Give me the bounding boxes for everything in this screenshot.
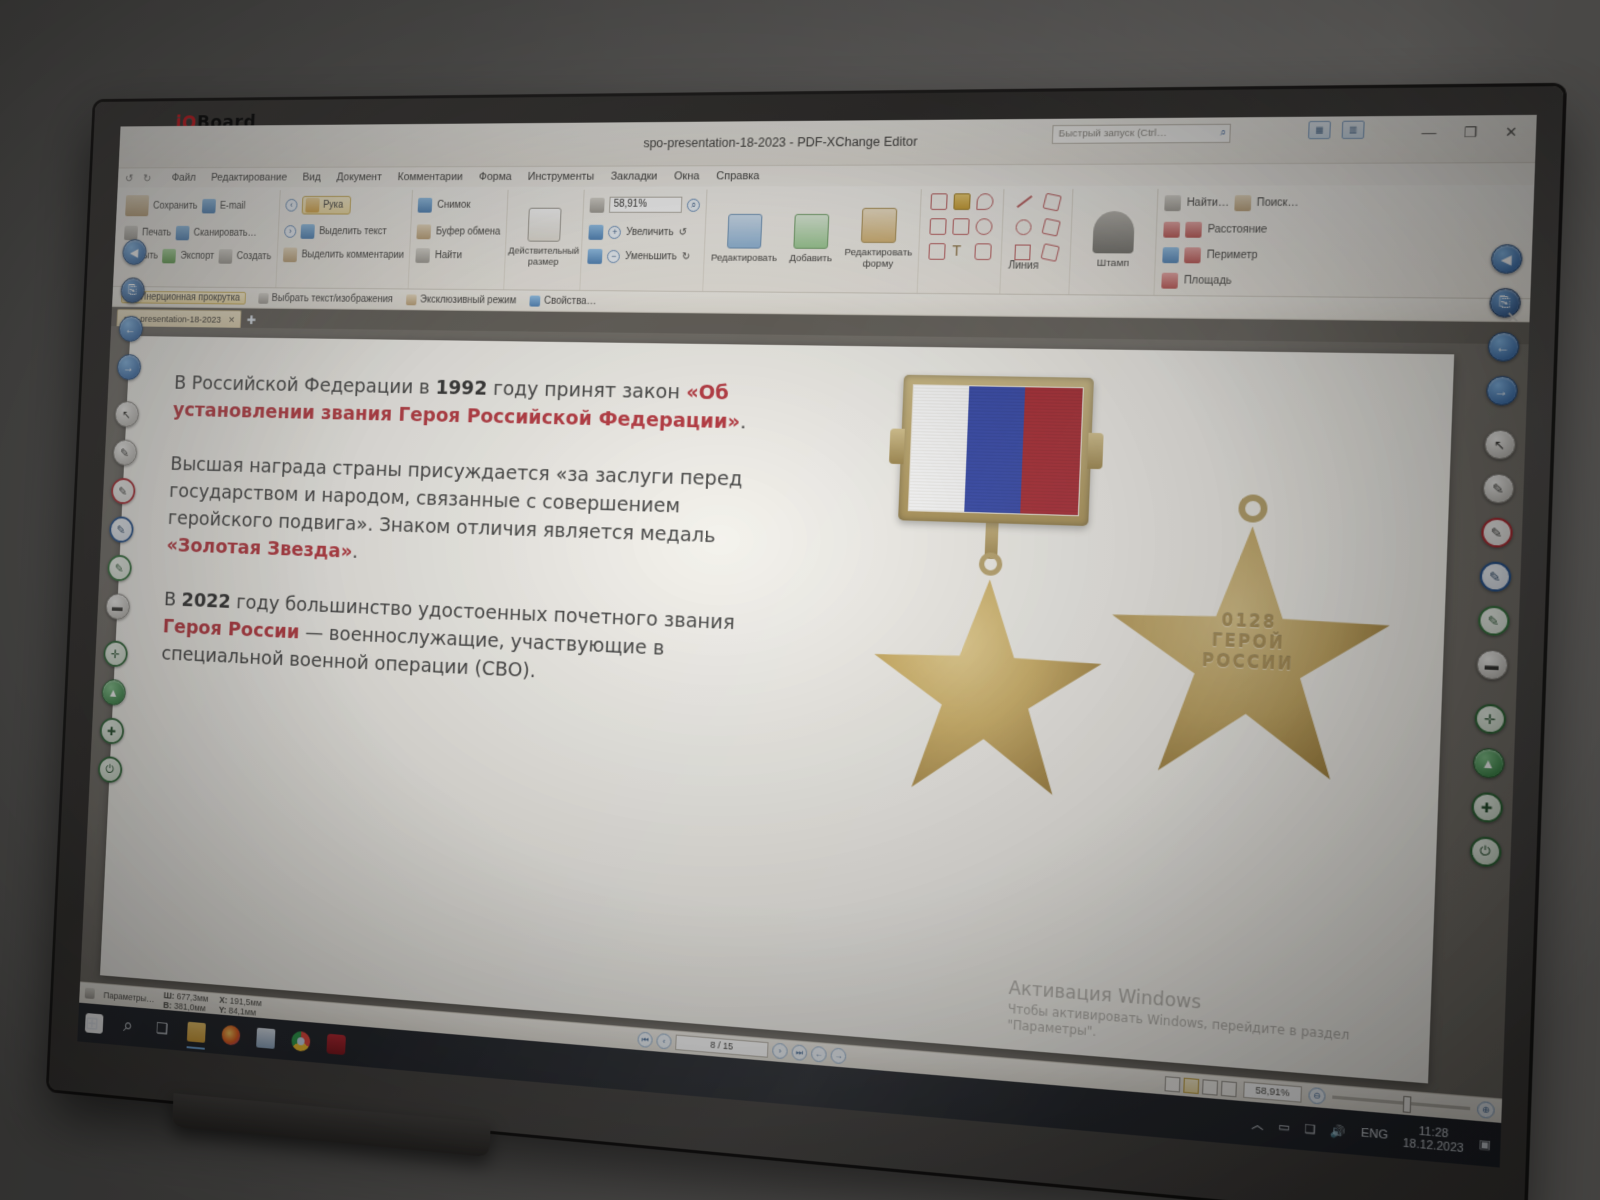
board-screen: spo-presentation-18-2023 - PDF-XChange E…	[77, 115, 1537, 1168]
ribbon-group-zoom: 58,91% ⌕ + Увеличить ↺ − Уменьшить	[581, 190, 708, 292]
power-icon[interactable]: ⏻	[97, 756, 122, 784]
layout-settings-icon[interactable]: ▦	[1308, 121, 1331, 139]
scan-label[interactable]: Сканировать…	[193, 227, 257, 238]
distance-label[interactable]: Расстояние	[1207, 223, 1267, 235]
language-indicator[interactable]: ENG	[1361, 1127, 1389, 1143]
app-icon[interactable]	[256, 1028, 275, 1049]
cloud-shape-icon[interactable]	[1040, 243, 1059, 262]
select-comments-label[interactable]: Выделить комментарии	[301, 249, 404, 260]
ribbon-group-measure: Найти… Поиск… Расстояние Периме	[1155, 189, 1306, 297]
pen-red-icon[interactable]: ✎	[110, 478, 135, 505]
engraving-line2: РОССИИ	[1110, 648, 1388, 681]
pen-blue-icon[interactable]: ✎	[108, 516, 133, 543]
sticky-note-icon[interactable]	[977, 193, 994, 210]
slide-image-column: 0128 ГЕРОЙ РОССИИ Активация Windows Чтоб…	[760, 345, 1454, 1083]
hand-tool-button[interactable]: Рука	[301, 195, 350, 214]
line-label: Линия	[1008, 260, 1064, 272]
search-icon: ⌕	[1220, 127, 1227, 139]
properties-icon	[529, 295, 540, 306]
line-shape-icon[interactable]	[1017, 195, 1033, 208]
pen-red-icon[interactable]: ✎	[1480, 517, 1512, 548]
medal-ring	[978, 552, 1002, 576]
fit-visible-icon[interactable]	[588, 248, 603, 263]
exclusive-mode-icon	[406, 294, 417, 305]
export-label[interactable]: Экспорт	[180, 250, 214, 261]
edit-content-button[interactable]: Редактировать	[710, 189, 780, 287]
stamp-label: Штамп	[1097, 257, 1130, 269]
attachment-annot-icon[interactable]	[976, 218, 993, 235]
stamp-button[interactable]: Штамп	[1076, 189, 1151, 291]
menu-item-windows[interactable]: Окна	[674, 170, 700, 182]
add-page-icon[interactable]: ✚	[99, 717, 124, 744]
hand-label: Рука	[323, 199, 344, 210]
p1-year: 1992	[435, 376, 488, 400]
p1-tail: .	[740, 410, 747, 434]
page-prev-icon[interactable]: ◀	[1490, 244, 1522, 274]
arrow-back-icon[interactable]: ←	[1487, 332, 1519, 362]
flag-stripe-blue	[964, 386, 1025, 513]
gold-star-reverse: 0128 ГЕРОЙ РОССИИ	[1106, 522, 1393, 787]
edit-form-button[interactable]: Редактировать форму	[843, 189, 915, 288]
prev-page-button[interactable]: ‹	[656, 1033, 672, 1050]
tray-display-icon[interactable]: ❑	[1304, 1121, 1316, 1136]
arrow-forward-icon[interactable]: →	[116, 354, 141, 380]
history-back-button[interactable]: ←	[811, 1046, 827, 1063]
two-page-scroll-icon[interactable]	[1221, 1080, 1237, 1097]
ribbon-group-clipboard: Снимок Буфер обмена Найти	[409, 190, 509, 289]
perimeter-label[interactable]: Периметр	[1206, 249, 1257, 261]
highlight-annot-icon[interactable]	[954, 193, 971, 210]
paragraph-1: В Российской Федерации в 1992 году приня…	[172, 369, 777, 437]
nav-next-icon[interactable]: ›	[284, 225, 296, 238]
select-text-icon[interactable]	[300, 224, 314, 239]
menu-item-comments[interactable]: Комментарии	[397, 171, 463, 183]
eraser-icon[interactable]: ▬	[105, 593, 130, 620]
minimize-button[interactable]: —	[1421, 124, 1436, 141]
pen-black-icon[interactable]: ✎	[1482, 473, 1514, 504]
slide-text-column: В Российской Федерации в 1992 году приня…	[100, 336, 789, 1029]
add-page-icon[interactable]: ✚	[1470, 792, 1502, 824]
shapes-icon[interactable]: ✛	[103, 640, 128, 667]
zoom-level-input[interactable]: 58,91%	[609, 197, 682, 213]
pen-blue-icon[interactable]: ✎	[1479, 561, 1511, 592]
paragraph-2: Высшая награда страны присуждается «за з…	[166, 450, 774, 582]
distance-icon[interactable]	[1185, 221, 1202, 237]
last-page-button[interactable]: ⏭	[791, 1044, 807, 1061]
cursor-icon[interactable]: ↖	[114, 401, 139, 427]
menu-item-edit[interactable]: Редактирование	[211, 172, 287, 184]
actual-size-button[interactable]: Действительный размер	[510, 190, 578, 286]
eraser-ribbon-icon[interactable]	[1163, 247, 1180, 263]
chrome-icon[interactable]	[291, 1031, 310, 1052]
export-icon[interactable]	[162, 248, 176, 262]
fit-page-icon[interactable]	[590, 197, 605, 212]
file-annot-icon[interactable]	[929, 243, 946, 260]
cursor-select-icon	[258, 293, 269, 304]
tray-volume-icon[interactable]: 🔊	[1330, 1123, 1346, 1139]
p2-tail: .	[352, 540, 359, 563]
firefox-icon[interactable]	[221, 1025, 240, 1046]
snapshot-label[interactable]: Снимок	[437, 199, 471, 210]
ribbon-group-view: Действительный размер	[505, 190, 585, 290]
arrow-forward-icon[interactable]: →	[1485, 376, 1517, 406]
fill-icon[interactable]: ▲	[101, 679, 126, 706]
eraser-icon[interactable]: ▬	[1476, 649, 1508, 680]
quick-launch-placeholder: Быстрый запуск (Ctrl…	[1058, 127, 1167, 139]
pen-green-icon[interactable]: ✎	[107, 555, 132, 582]
actual-size-label: Действительный размер	[508, 246, 580, 268]
fit-width-icon[interactable]	[589, 224, 604, 239]
interactive-whiteboard: iQBoard spo-presentation-18-2023 - PDF-X…	[48, 86, 1563, 1200]
properties-button[interactable]: Свойства…	[529, 295, 596, 307]
find-small-icon[interactable]	[1165, 195, 1182, 211]
email-label[interactable]: E-mail	[220, 200, 246, 211]
two-page-view-icon[interactable]	[1202, 1079, 1218, 1095]
typewriter-icon[interactable]: T	[952, 243, 969, 260]
explorer-icon[interactable]	[187, 1022, 206, 1043]
polygon-shape-icon[interactable]	[1041, 217, 1060, 236]
titlebar-toolbuttons: ▦ ▥	[1308, 121, 1365, 140]
polyline-shape-icon[interactable]	[1042, 192, 1061, 211]
flag-stripe-red	[1021, 387, 1083, 515]
edit-content-label: Редактировать	[711, 252, 777, 264]
find-small-label[interactable]: Найти…	[1187, 197, 1230, 209]
select-text-label[interactable]: Выделить текст	[319, 226, 387, 237]
zoom-out-button[interactable]: ⊖	[1308, 1087, 1326, 1105]
select-text-image-button[interactable]: Выбрать текст/изображения	[258, 293, 393, 305]
find-label[interactable]: Найти	[435, 250, 462, 261]
rectangle-shape-icon[interactable]	[1014, 244, 1031, 260]
stamp-icon	[1093, 211, 1136, 253]
inertial-scroll-label: Инерционная прокрутка	[140, 291, 241, 303]
ribbon-group-edit: Редактировать Добавить Редактировать фор…	[704, 189, 923, 293]
sound-annot-icon[interactable]	[975, 243, 992, 260]
menu-item-document[interactable]: Документ	[336, 171, 382, 183]
maximize-button[interactable]: ❐	[1464, 124, 1478, 142]
zoom-status-input[interactable]: 58,91%	[1243, 1082, 1302, 1103]
strikeout-annot-icon[interactable]	[953, 218, 970, 235]
cursor-icon[interactable]: ↖	[1483, 429, 1515, 459]
scan-icon[interactable]	[175, 225, 189, 239]
menu-item-help[interactable]: Справка	[716, 170, 760, 182]
task-view-icon[interactable]	[153, 1019, 172, 1040]
russian-flag-ribbon	[908, 384, 1084, 516]
search-panel-label[interactable]: Поиск…	[1256, 197, 1298, 209]
menu-item-file[interactable]: Файл	[171, 172, 196, 184]
panel-toggle-icon[interactable]: ▥	[1342, 121, 1365, 139]
hand-icon	[305, 197, 319, 212]
paragraph-3: В 2022 году большинство удостоенных поче…	[161, 585, 768, 696]
window-title: spo-presentation-18-2023 - PDF-XChange E…	[643, 134, 918, 150]
perimeter-icon[interactable]	[1184, 247, 1201, 263]
p1-pre: В Российской Федерации в	[174, 371, 436, 398]
windows-activation-watermark: Активация Windows Чтобы активировать Win…	[1007, 977, 1351, 1062]
tray-network-icon[interactable]: ▭	[1278, 1119, 1290, 1134]
zoom-out-label[interactable]: Уменьшить	[625, 251, 677, 262]
pen-green-icon[interactable]: ✎	[1477, 605, 1509, 636]
rotate-cw-icon[interactable]: ↻	[681, 251, 690, 262]
p3-accent: Героя России	[162, 615, 300, 643]
select-comments-icon[interactable]	[283, 247, 297, 262]
rotate-ccw-icon[interactable]: ↺	[678, 227, 687, 238]
quick-launch-input[interactable]: Быстрый запуск (Ctrl… ⌕	[1052, 124, 1231, 144]
pdf-xchange-icon[interactable]	[326, 1034, 346, 1056]
next-page-button[interactable]: ›	[772, 1043, 788, 1060]
snapshot-icon[interactable]	[418, 197, 433, 212]
view-mode-group	[1165, 1076, 1237, 1097]
medal-back: 0128 ГЕРОЙ РОССИИ	[1068, 489, 1435, 789]
p3-pre: В	[164, 587, 183, 610]
pencil-icon[interactable]	[1164, 221, 1181, 237]
pen-black-icon[interactable]: ✎	[112, 439, 137, 466]
add-content-icon	[794, 213, 830, 248]
zoom-in-label[interactable]: Увеличить	[626, 226, 674, 237]
medal-loop	[1238, 494, 1268, 523]
area-icon[interactable]	[1162, 272, 1179, 288]
select-text-image-label: Выбрать текст/изображения	[272, 293, 394, 305]
menu-item-bookmarks[interactable]: Закладки	[610, 170, 657, 182]
nav-prev-icon[interactable]: ‹	[285, 198, 297, 211]
menu-item-view[interactable]: Вид	[302, 172, 321, 184]
tray-chevron-icon[interactable]: ︿	[1251, 1115, 1264, 1134]
find-icon[interactable]	[416, 248, 431, 263]
first-page-button[interactable]: ⏮	[637, 1031, 653, 1048]
add-content-button[interactable]: Добавить	[776, 189, 847, 288]
arrow-back-icon[interactable]: ←	[118, 316, 143, 342]
exclusive-mode-button[interactable]: Эксклюзивный режим	[406, 294, 517, 306]
page-save-icon[interactable]: ⎘	[120, 277, 145, 303]
ribbon-toolbar: Сохранить E-mail Печать Сканировать… Отк…	[113, 185, 1534, 299]
pdf-page: В Российской Федерации в 1992 году приня…	[100, 336, 1454, 1083]
close-icon[interactable]: ✕	[228, 315, 235, 326]
callout-annot-icon[interactable]	[930, 218, 947, 235]
titlebar: spo-presentation-18-2023 - PDF-XChange E…	[119, 115, 1537, 169]
star-engraving: 0128 ГЕРОЙ РОССИИ	[1110, 607, 1390, 680]
overlay-close-icon[interactable]: ✕	[1505, 308, 1520, 328]
zoom-in-icon[interactable]: +	[608, 225, 621, 238]
create-icon[interactable]	[218, 249, 232, 264]
zoom-out-icon[interactable]: −	[607, 249, 620, 262]
p3-year: 2022	[181, 588, 231, 612]
shapes-icon[interactable]: ✛	[1474, 703, 1506, 734]
medal-ribbon-bar	[898, 374, 1094, 525]
text-box-annot-icon[interactable]	[931, 193, 948, 210]
edit-content-icon	[727, 213, 763, 248]
history-forward-button[interactable]: →	[830, 1047, 846, 1064]
single-page-view-icon[interactable]	[1165, 1076, 1181, 1092]
ribbon-group-shapes: Линия	[1001, 189, 1074, 294]
continuous-view-icon[interactable]	[1183, 1077, 1199, 1093]
zoom-tool-icon[interactable]: ⌕	[687, 198, 700, 211]
ribbon-group-annotations: T	[918, 189, 1005, 293]
new-tab-icon[interactable]: ✚	[246, 313, 256, 328]
edit-form-icon	[861, 208, 897, 243]
actual-size-icon	[528, 208, 562, 242]
properties-label: Свойства…	[544, 295, 597, 307]
edit-form-label: Редактировать форму	[844, 247, 913, 270]
save-label[interactable]: Сохранить	[153, 200, 198, 211]
document-viewport[interactable]: В Российской Федерации в 1992 году приня…	[80, 326, 1529, 1098]
search-panel-icon[interactable]	[1234, 195, 1251, 211]
page-prev-icon[interactable]: ◀	[122, 239, 147, 265]
ribbon-group-stamp: Штамп	[1070, 189, 1159, 295]
create-label[interactable]: Создать	[236, 251, 271, 262]
menu-item-form[interactable]: Форма	[479, 171, 512, 183]
clipboard-label[interactable]: Буфер обмена	[436, 226, 501, 237]
email-icon[interactable]	[202, 198, 216, 212]
fill-icon[interactable]: ▲	[1472, 747, 1504, 778]
search-icon[interactable]	[119, 1016, 138, 1037]
ellipse-shape-icon[interactable]	[1015, 219, 1032, 235]
add-content-label: Добавить	[789, 252, 832, 264]
flag-stripe-white	[909, 385, 970, 511]
p2-accent: «Золотая Звезда»	[166, 534, 353, 563]
exclusive-mode-label: Эксклюзивный режим	[420, 294, 517, 306]
ribbon-group-select: ‹ Рука › Выделить текст	[276, 190, 413, 289]
area-label[interactable]: Площадь	[1184, 274, 1232, 286]
clipboard-icon[interactable]	[417, 224, 432, 239]
power-icon[interactable]: ⏻	[1469, 836, 1501, 868]
p1-mid: году принят закон	[487, 377, 687, 404]
menu-item-tools[interactable]: Инструменты	[528, 171, 595, 183]
pdf-xchange-editor-window: spo-presentation-18-2023 - PDF-XChange E…	[77, 115, 1537, 1168]
board-tray	[172, 1093, 491, 1157]
